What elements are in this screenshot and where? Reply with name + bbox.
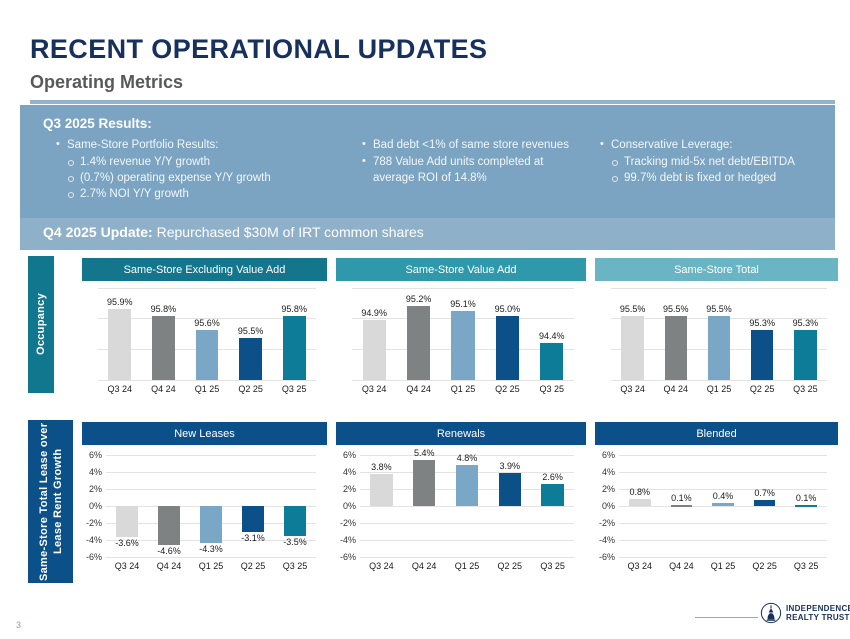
bar (152, 316, 175, 380)
x-axis-category-label: Q3 24 (98, 384, 142, 394)
x-axis-category-label: Q3 25 (785, 561, 827, 571)
bar-value-label: 95.6% (185, 318, 229, 328)
x-axis-category-label: Q3 24 (611, 384, 654, 394)
y-axis-tick: 4% (343, 467, 360, 477)
bar (499, 473, 521, 506)
results-column-3: Conservative Leverage: Tracking mid-5x n… (598, 137, 848, 186)
bar-value-label: 3.8% (360, 462, 403, 472)
bar-value-label: -3.5% (274, 537, 316, 547)
bullet-value-add-units: 788 Value Add units completed at average… (360, 154, 585, 186)
bar (363, 320, 386, 380)
x-axis-category-label: Q4 24 (403, 561, 446, 571)
bar (708, 316, 730, 380)
y-axis-tick: -2% (340, 518, 360, 528)
bar-value-label: 95.0% (485, 304, 529, 314)
y-axis-tick: -6% (340, 552, 360, 562)
bar-value-label: 95.3% (784, 318, 827, 328)
chart-plot-same-store-value-add: 94.9%Q3 2495.2%Q4 2495.1%Q1 2595.0%Q2 25… (352, 288, 574, 380)
bar-value-label: 5.4% (403, 448, 446, 458)
bar (541, 484, 563, 506)
y-axis-tick: 2% (343, 484, 360, 494)
bar (671, 505, 693, 507)
bullet-portfolio-results: Same-Store Portfolio Results: (54, 137, 354, 153)
bar (196, 330, 219, 380)
gridline (106, 557, 316, 558)
gridline (360, 557, 574, 558)
subbullet-revenue-growth: 1.4% revenue Y/Y growth (54, 154, 354, 170)
bar-value-label: 0.1% (785, 493, 827, 503)
bar-value-label: -3.6% (106, 538, 148, 548)
bar-value-label: 95.5% (697, 304, 740, 314)
x-axis-category-label: Q3 25 (274, 561, 316, 571)
subbullet-fixed-hedged: 99.7% debt is fixed or hedged (598, 170, 848, 186)
gridline (98, 288, 316, 289)
page-title: RECENT OPERATIONAL UPDATES (30, 34, 487, 65)
chart-header-new-leases: New Leases (82, 422, 327, 445)
chart-header-same-store-value-add: Same-Store Value Add (336, 258, 586, 281)
chart-plot-same-store-excluding-value-add: 95.9%Q3 2495.8%Q4 2495.6%Q1 2595.5%Q2 25… (98, 288, 316, 380)
bar-value-label: -4.3% (190, 544, 232, 554)
y-axis-tick: -6% (599, 552, 619, 562)
y-axis-tick: -4% (599, 535, 619, 545)
bullet-conservative-leverage: Conservative Leverage: (598, 137, 848, 153)
x-axis-category-label: Q2 25 (229, 384, 273, 394)
bar-value-label: 2.6% (531, 472, 574, 482)
gridline (619, 557, 827, 558)
bar (370, 474, 392, 506)
x-axis-category-label: Q1 25 (702, 561, 744, 571)
x-axis-category-label: Q3 24 (106, 561, 148, 571)
subbullet-opex-growth: (0.7%) operating expense Y/Y growth (54, 170, 354, 186)
x-axis-category-label: Q4 24 (396, 384, 440, 394)
bar (200, 506, 222, 543)
bar (754, 500, 776, 506)
x-axis-category-label: Q1 25 (441, 384, 485, 394)
x-axis-category-label: Q4 24 (661, 561, 703, 571)
x-axis-category-label: Q3 25 (784, 384, 827, 394)
title-accent-rule (30, 100, 835, 104)
bar-value-label: 95.5% (229, 326, 273, 336)
subbullet-net-debt-ebitda: Tracking mid-5x net debt/EBITDA (598, 154, 848, 170)
bar-value-label: 94.4% (530, 331, 574, 341)
slide: RECENT OPERATIONAL UPDATES Operating Met… (0, 0, 850, 639)
x-axis-category-label: Q1 25 (190, 561, 232, 571)
footer-rule (695, 617, 758, 618)
y-axis-tick: 6% (343, 450, 360, 460)
gridline (619, 523, 827, 524)
gridline (106, 455, 316, 456)
x-axis-category-label: Q2 25 (488, 561, 531, 571)
bar-value-label: 3.9% (488, 461, 531, 471)
x-axis-category-label: Q3 25 (531, 561, 574, 571)
logo-wordmark: INDEPENDENCE REALTY TRUST (786, 604, 850, 623)
x-axis-category-label: Q3 24 (360, 561, 403, 571)
y-axis-tick: 6% (602, 450, 619, 460)
gridline (611, 380, 827, 381)
bar (158, 506, 180, 545)
side-label-rent-growth: Same-Store Total Lease over Lease Rent G… (28, 420, 73, 583)
y-axis-tick: -4% (340, 535, 360, 545)
x-axis-category-label: Q2 25 (485, 384, 529, 394)
bar-value-label: 95.3% (741, 318, 784, 328)
chart-header-same-store-excluding-value-add: Same-Store Excluding Value Add (82, 258, 327, 281)
x-axis-category-label: Q4 24 (142, 384, 186, 394)
bar-value-label: 0.4% (702, 491, 744, 501)
logo-line-2: REALTY TRUST (786, 613, 850, 623)
bar-value-label: 95.8% (142, 304, 186, 314)
bar (284, 506, 306, 536)
gridline (106, 489, 316, 490)
bar (712, 503, 734, 506)
gridline (360, 540, 574, 541)
gridline (360, 523, 574, 524)
x-axis-category-label: Q4 24 (148, 561, 190, 571)
x-axis-category-label: Q3 24 (619, 561, 661, 571)
y-axis-tick: 6% (89, 450, 106, 460)
bar-value-label: 95.2% (396, 294, 440, 304)
x-axis-category-label: Q3 24 (352, 384, 396, 394)
bar (629, 499, 651, 506)
bar (283, 316, 306, 380)
chart-header-same-store-total: Same-Store Total (595, 258, 838, 281)
bar-value-label: 4.8% (446, 453, 489, 463)
bar-value-label: -4.6% (148, 546, 190, 556)
bar (116, 506, 138, 537)
bar (751, 330, 773, 380)
q4-update-bar: Q4 2025 Update: Repurchased $30M of IRT … (20, 218, 835, 250)
bar (242, 506, 264, 532)
page-subtitle: Operating Metrics (30, 72, 183, 93)
bar-value-label: 0.7% (744, 488, 786, 498)
page-number: 3 (16, 620, 21, 630)
results-column-1: Same-Store Portfolio Results: 1.4% reven… (54, 137, 354, 202)
y-axis-tick: 2% (602, 484, 619, 494)
y-axis-tick: -4% (86, 535, 106, 545)
y-axis-tick: 0% (89, 501, 106, 511)
x-axis-category-label: Q2 25 (744, 561, 786, 571)
chart-header-renewals: Renewals (336, 422, 586, 445)
x-axis-category-label: Q3 25 (272, 384, 316, 394)
results-heading: Q3 2025 Results: (43, 116, 152, 131)
logo-line-1: INDEPENDENCE (786, 604, 850, 614)
bar-value-label: 95.9% (98, 297, 142, 307)
gridline (352, 288, 574, 289)
chart-plot-new-leases: 6%4%2%0%-2%-4%-6%-3.6%Q3 24-4.6%Q4 24-4.… (106, 455, 316, 557)
bar-value-label: 95.5% (654, 304, 697, 314)
bar (621, 316, 643, 380)
bar (795, 505, 817, 507)
bar (540, 343, 563, 380)
gridline (619, 540, 827, 541)
side-label-occupancy-text: Occupancy (34, 293, 48, 355)
y-axis-tick: 4% (89, 467, 106, 477)
bar (451, 311, 474, 380)
x-axis-category-label: Q4 24 (654, 384, 697, 394)
subbullet-noi-growth: 2.7% NOI Y/Y growth (54, 186, 354, 202)
x-axis-category-label: Q3 25 (530, 384, 574, 394)
bar (794, 330, 816, 380)
bar (239, 338, 262, 380)
y-axis-tick: -2% (86, 518, 106, 528)
bar (413, 460, 435, 506)
bar (456, 465, 478, 506)
bar-value-label: -3.1% (232, 533, 274, 543)
chart-plot-blended: 6%4%2%0%-2%-4%-6%0.8%Q3 240.1%Q4 240.4%Q… (619, 455, 827, 557)
y-axis-tick: 0% (343, 501, 360, 511)
liberty-bell-icon (760, 602, 782, 624)
y-axis-tick: 2% (89, 484, 106, 494)
gridline (106, 472, 316, 473)
bar (665, 316, 687, 380)
bar-value-label: 0.8% (619, 487, 661, 497)
gridline (98, 380, 316, 381)
company-logo: INDEPENDENCE REALTY TRUST (760, 602, 850, 624)
q4-update-label: Q4 2025 Update: (43, 224, 153, 240)
x-axis-category-label: Q2 25 (741, 384, 784, 394)
bar-value-label: 95.1% (441, 299, 485, 309)
gridline (352, 380, 574, 381)
gridline (619, 472, 827, 473)
bar (108, 309, 131, 380)
y-axis-tick: -6% (86, 552, 106, 562)
gridline (619, 455, 827, 456)
bar (496, 316, 519, 380)
gridline (611, 288, 827, 289)
q4-update-body: Repurchased $30M of IRT common shares (153, 224, 424, 240)
bar-value-label: 95.5% (611, 304, 654, 314)
y-axis-tick: 0% (602, 501, 619, 511)
q4-update-text: Q4 2025 Update: Repurchased $30M of IRT … (43, 224, 424, 240)
chart-plot-same-store-total: 95.5%Q3 2495.5%Q4 2495.5%Q1 2595.3%Q2 25… (611, 288, 827, 380)
x-axis-category-label: Q1 25 (446, 561, 489, 571)
bar-value-label: 0.1% (661, 493, 703, 503)
side-label-occupancy: Occupancy (28, 256, 54, 393)
y-axis-tick: -2% (599, 518, 619, 528)
chart-plot-renewals: 6%4%2%0%-2%-4%-6%3.8%Q3 245.4%Q4 244.8%Q… (360, 455, 574, 557)
results-column-2: Bad debt <1% of same store revenues 788 … (360, 137, 585, 187)
y-axis-tick: 4% (602, 467, 619, 477)
bullet-bad-debt: Bad debt <1% of same store revenues (360, 137, 585, 153)
x-axis-category-label: Q1 25 (185, 384, 229, 394)
bar-value-label: 94.9% (352, 308, 396, 318)
bar (407, 306, 430, 380)
gridline (360, 506, 574, 507)
x-axis-category-label: Q2 25 (232, 561, 274, 571)
side-label-rent-growth-text: Same-Store Total Lease over Lease Rent G… (37, 420, 65, 583)
bar-value-label: 95.8% (272, 304, 316, 314)
x-axis-category-label: Q1 25 (697, 384, 740, 394)
chart-header-blended: Blended (595, 422, 838, 445)
